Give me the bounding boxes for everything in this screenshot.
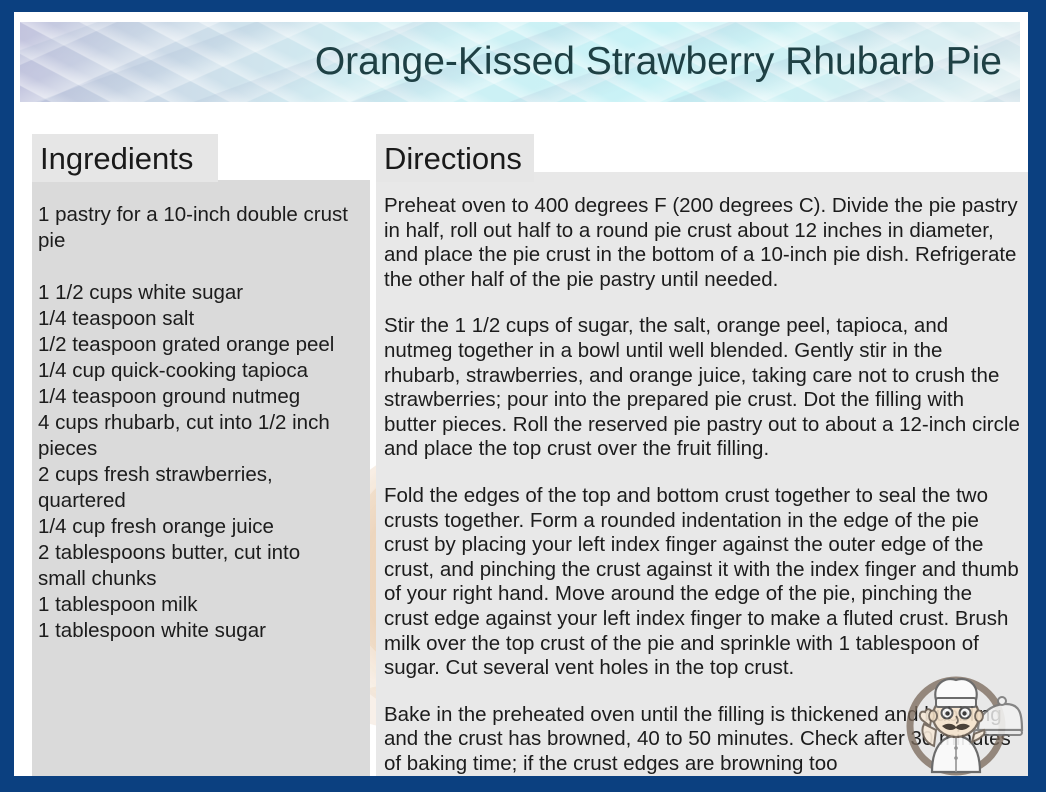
slide-canvas: Orange-Kissed Strawberry Rhubarb Pie bbox=[14, 12, 1028, 776]
ingredients-spacer bbox=[38, 254, 364, 280]
ingredient-line: pie bbox=[38, 228, 364, 254]
ingredient-line: 1/2 teaspoon grated orange peel bbox=[38, 332, 364, 358]
recipe-card-page: Orange-Kissed Strawberry Rhubarb Pie bbox=[0, 0, 1046, 792]
ingredient-line: 4 cups rhubarb, cut into 1/2 inch bbox=[38, 410, 364, 436]
ingredient-line: 1/4 cup fresh orange juice bbox=[38, 514, 364, 540]
ingredients-section-header: Ingredients bbox=[32, 134, 218, 182]
ingredient-line: 1/4 cup quick-cooking tapioca bbox=[38, 358, 364, 384]
direction-paragraph: Preheat oven to 400 degrees F (200 degre… bbox=[384, 194, 1021, 292]
ingredient-line: 2 cups fresh strawberries, bbox=[38, 462, 364, 488]
ingredients-header-label: Ingredients bbox=[40, 143, 193, 174]
ingredient-line: quartered bbox=[38, 488, 364, 514]
directions-header-label: Directions bbox=[384, 143, 522, 174]
ingredient-line: 1 tablespoon milk bbox=[38, 592, 364, 618]
ingredient-line: 1/4 teaspoon ground nutmeg bbox=[38, 384, 364, 410]
directions-section-header: Directions bbox=[376, 134, 534, 182]
ingredient-line: 1 pastry for a 10-inch double crust bbox=[38, 202, 364, 228]
ingredient-line: 2 tablespoons butter, cut into bbox=[38, 540, 364, 566]
ingredient-line: 1/4 teaspoon salt bbox=[38, 306, 364, 332]
directions-text: Preheat oven to 400 degrees F (200 degre… bbox=[384, 194, 1021, 776]
ingredient-line: 1 tablespoon white sugar bbox=[38, 618, 364, 644]
direction-paragraph: Stir the 1 1/2 cups of sugar, the salt, … bbox=[384, 314, 1021, 462]
direction-paragraph: Bake in the preheated oven until the fil… bbox=[384, 703, 1021, 776]
direction-paragraph: Fold the edges of the top and bottom cru… bbox=[384, 484, 1021, 681]
ingredients-panel: 1 pastry for a 10-inch double crustpie1 … bbox=[32, 180, 370, 776]
page-title: Orange-Kissed Strawberry Rhubarb Pie bbox=[315, 40, 1002, 84]
title-banner: Orange-Kissed Strawberry Rhubarb Pie bbox=[20, 22, 1020, 102]
directions-panel: Preheat oven to 400 degrees F (200 degre… bbox=[376, 172, 1028, 776]
ingredient-line: small chunks bbox=[38, 566, 364, 592]
ingredient-line: pieces bbox=[38, 436, 364, 462]
ingredients-list: 1 pastry for a 10-inch double crustpie1 … bbox=[38, 202, 364, 644]
ingredient-line: 1 1/2 cups white sugar bbox=[38, 280, 364, 306]
